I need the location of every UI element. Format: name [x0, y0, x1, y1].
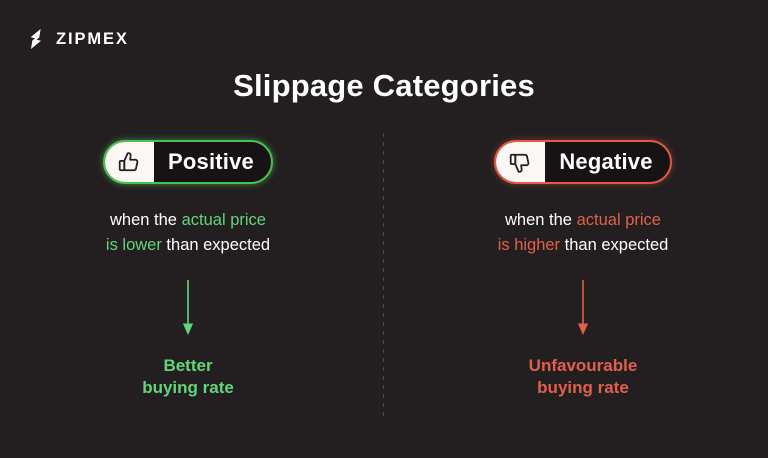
positive-outcome-line1: Better: [142, 355, 234, 377]
negative-outcome-line1: Unfavourable: [529, 355, 638, 377]
negative-description-line1: when the actual price: [498, 208, 669, 233]
positive-outcome: Better buying rate: [142, 355, 234, 399]
positive-desc-prefix: when the: [110, 211, 182, 229]
positive-desc-highlight-2: is lower: [106, 236, 162, 254]
negative-description: when the actual price is higher than exp…: [498, 208, 669, 258]
negative-badge[interactable]: Negative: [494, 140, 671, 184]
negative-desc-highlight-2: is higher: [498, 236, 560, 254]
negative-desc-highlight: actual price: [577, 211, 661, 229]
positive-category-column: Positive when the actual price is lower …: [0, 140, 384, 399]
negative-desc-prefix: when the: [505, 211, 577, 229]
zipmex-bolt-icon: [30, 29, 47, 49]
negative-outcome: Unfavourable buying rate: [529, 355, 638, 399]
brand-name: ZIPMEX: [56, 30, 129, 49]
positive-badge[interactable]: Positive: [103, 140, 273, 184]
positive-badge-label: Positive: [154, 142, 271, 182]
arrow-down-icon-negative: [575, 280, 591, 336]
slippage-category-columns: Positive when the actual price is lower …: [0, 140, 768, 399]
positive-description: when the actual price is lower than expe…: [106, 208, 270, 258]
positive-outcome-line2: buying rate: [142, 377, 234, 399]
negative-description-line2: is higher than expected: [498, 233, 669, 258]
negative-badge-label: Negative: [545, 142, 669, 182]
negative-category-column: Negative when the actual price is higher…: [384, 140, 768, 399]
positive-desc-highlight: actual price: [182, 211, 266, 229]
negative-outcome-line2: buying rate: [529, 377, 638, 399]
arrow-down-icon-positive: [180, 280, 196, 336]
negative-desc-suffix: than expected: [560, 236, 668, 254]
positive-description-line2: is lower than expected: [106, 233, 270, 258]
thumbs-down-icon: [496, 142, 545, 182]
brand-logo: ZIPMEX: [30, 29, 129, 49]
positive-description-line1: when the actual price: [106, 208, 270, 233]
thumbs-up-icon: [105, 142, 154, 182]
positive-desc-suffix: than expected: [162, 236, 270, 254]
page-title: Slippage Categories: [0, 68, 768, 104]
